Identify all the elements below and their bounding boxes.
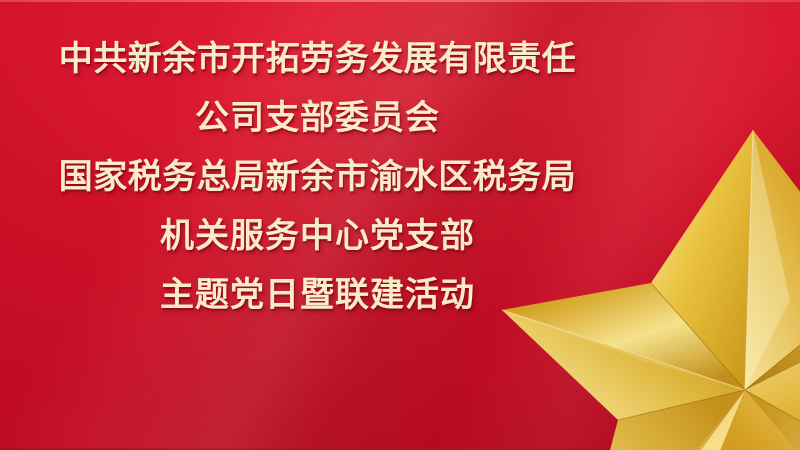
headline-line-4: 机关服务中心党支部 [0, 219, 635, 253]
top-edge-highlight [0, 0, 800, 2]
headline-line-5: 主题党日暨联建活动 [0, 278, 635, 312]
poster-canvas: 中共新余市开拓劳务发展有限责任 公司支部委员会 国家税务总局新余市渝水区税务局 … [0, 0, 800, 450]
headline-block: 中共新余市开拓劳务发展有限责任 公司支部委员会 国家税务总局新余市渝水区税务局 … [0, 42, 635, 312]
headline-line-2: 公司支部委员会 [0, 101, 635, 135]
headline-line-1: 中共新余市开拓劳务发展有限责任 [0, 42, 635, 76]
headline-line-3: 国家税务总局新余市渝水区税务局 [0, 160, 635, 194]
